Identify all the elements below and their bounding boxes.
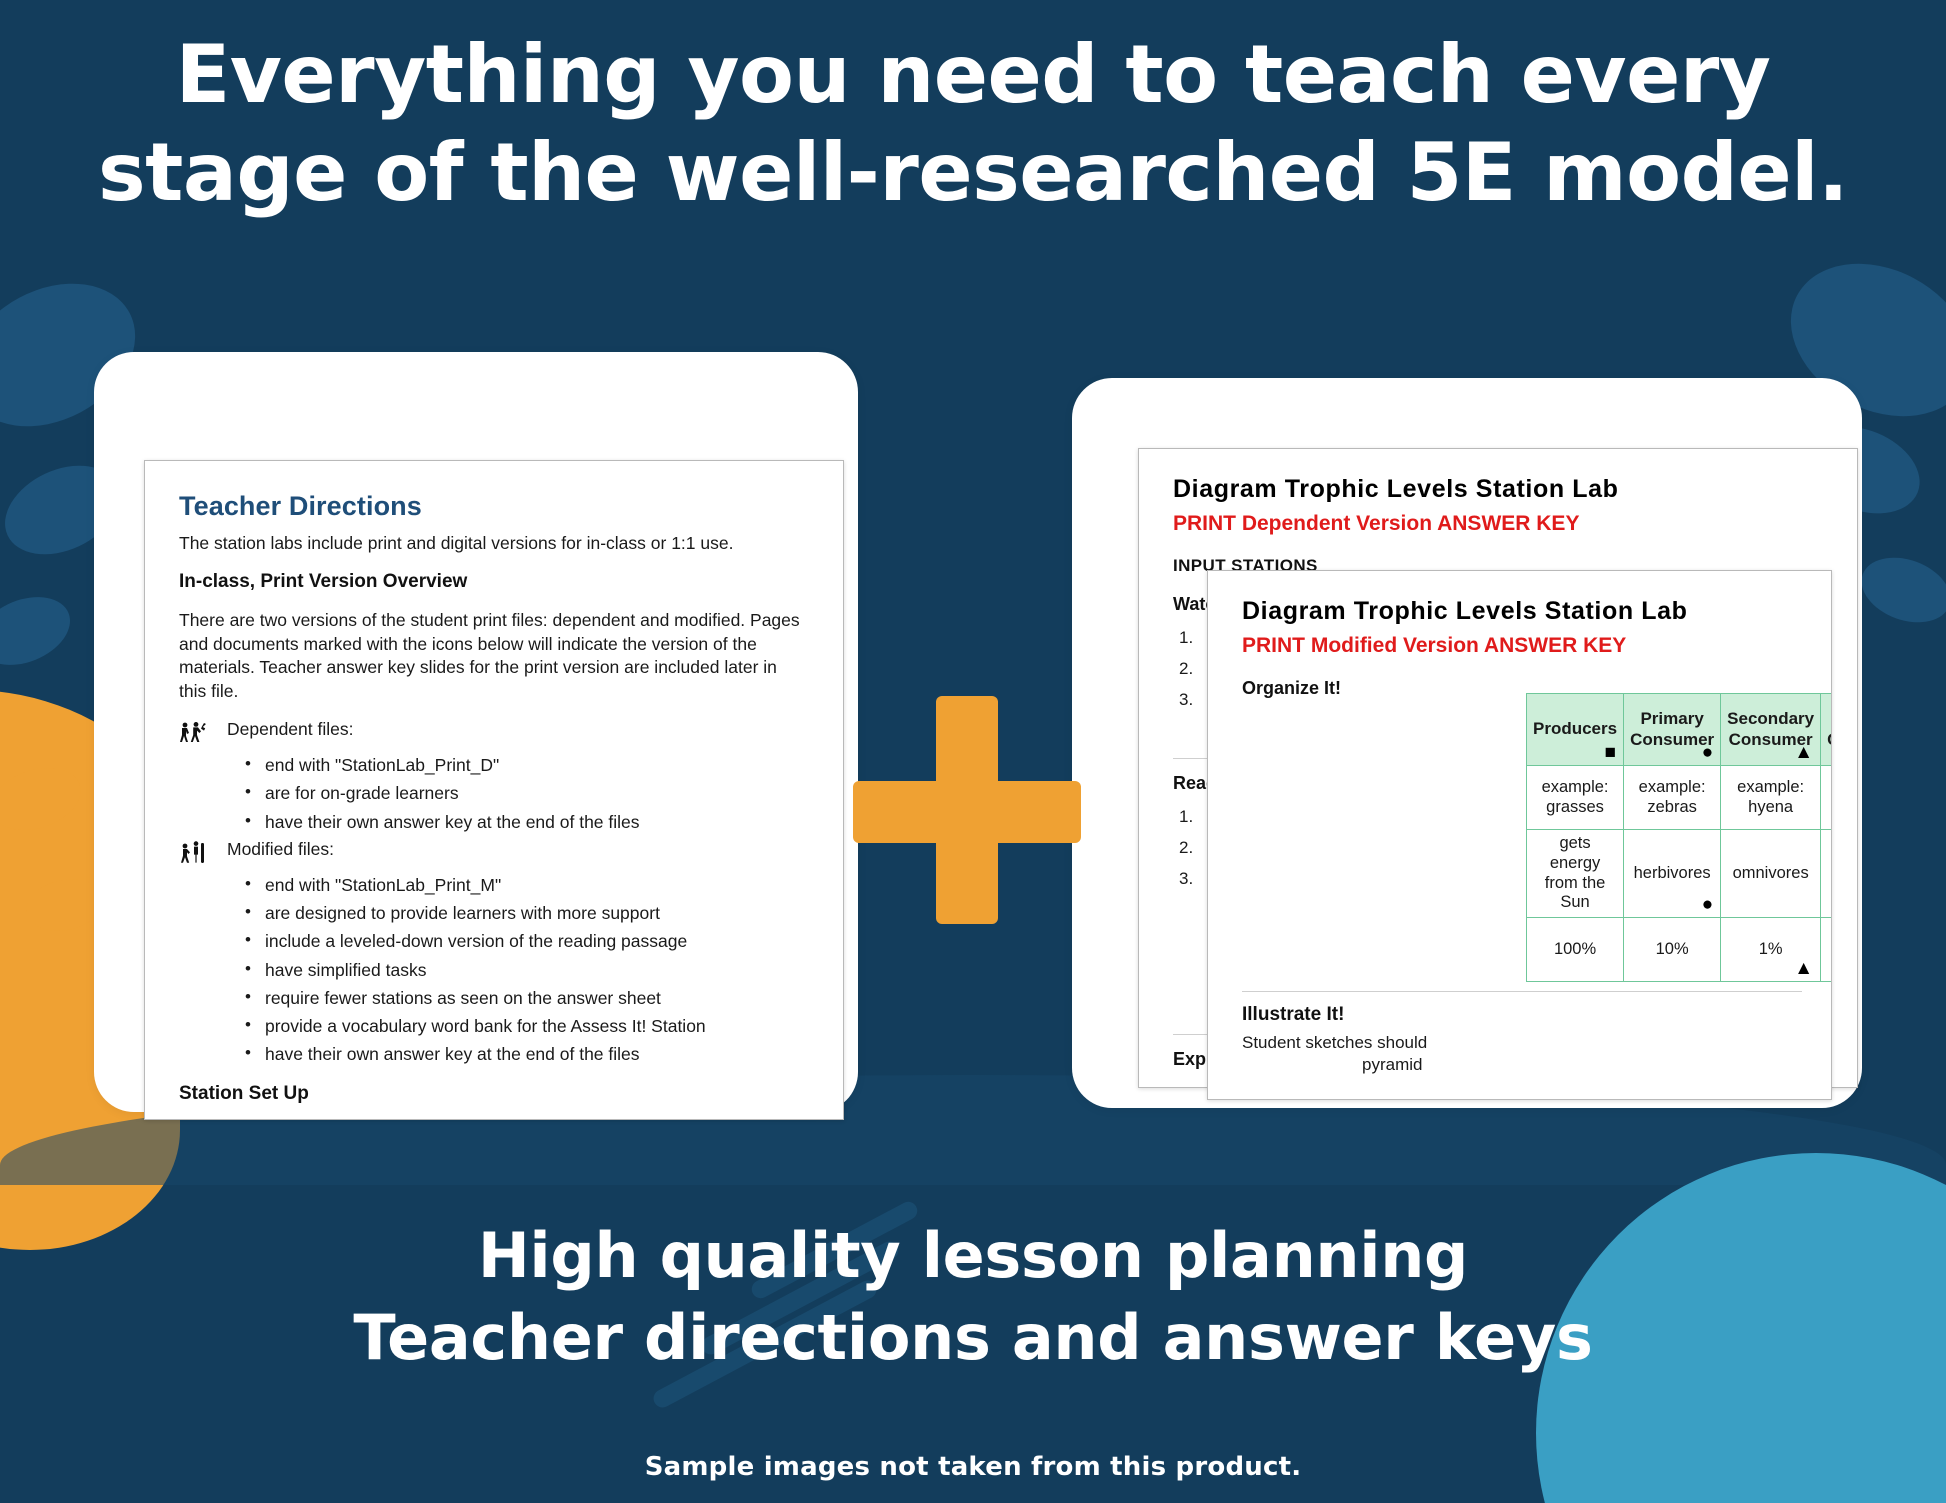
list-item: have their own answer key at the end of …	[245, 1043, 807, 1065]
modified-files-list: end with "StationLab_Print_M" are design…	[245, 874, 807, 1066]
hikers-figure-icon	[179, 719, 209, 750]
list-item: have their own answer key at the end of …	[245, 811, 807, 833]
decorative-blob-orange-dot-1	[0, 757, 89, 841]
triangle-glyph-icon: ▲	[1794, 959, 1813, 978]
list-item: are designed to provide learners with mo…	[245, 902, 807, 924]
triangle-glyph-icon: ▲	[1794, 743, 1813, 762]
table-cell: 0.1%	[1821, 918, 1832, 982]
bottom-captions: High quality lesson planning Teacher dir…	[0, 1215, 1946, 1380]
list-item: require fewer stations as seen on the an…	[245, 987, 807, 1009]
decorative-blob-blue-right-3	[1853, 546, 1946, 634]
illustrate-it-body-line-2: pyramid	[1362, 1054, 1802, 1076]
teacher-directions-document: Teacher Directions The station labs incl…	[144, 460, 844, 1120]
list-item: have simplified tasks	[245, 959, 807, 981]
column-header-tertiary-consumer: Tertiary Consumer ♥	[1821, 694, 1832, 766]
table-row: 100% 10% 1% ▲ 0.1%	[1527, 918, 1833, 982]
assisted-figure-icon	[179, 839, 209, 870]
trophic-levels-table: Producers ■ Primary Consumer ● Secondary…	[1526, 693, 1832, 982]
trophic-levels-table-wrapper: Producers ■ Primary Consumer ● Secondary…	[1526, 693, 1832, 982]
bottom-caption-line-2: Teacher directions and answer keys	[0, 1297, 1946, 1379]
page-title: Teacher Directions	[179, 491, 807, 522]
circle-glyph-icon: ●	[1702, 895, 1713, 914]
circle-glyph-icon: ●	[1702, 743, 1713, 762]
page-subtitle: PRINT Dependent Version ANSWER KEY	[1173, 512, 1857, 536]
section-heading-print-overview: In-class, Print Version Overview	[179, 571, 807, 593]
page-title: Diagram Trophic Levels Station Lab	[1173, 475, 1857, 504]
dependent-files-group: Dependent files:	[179, 719, 807, 750]
square-glyph-icon: ■	[1605, 743, 1616, 762]
column-header-primary-consumer: Primary Consumer ●	[1624, 694, 1721, 766]
illustrate-it-heading: Illustrate It!	[1242, 1004, 1802, 1026]
list-item: provide a vocabulary word bank for the A…	[245, 1015, 807, 1037]
page-title: Diagram Trophic Levels Station Lab	[1242, 597, 1831, 626]
table-row: gets energy from the Sun herbivores ● om…	[1527, 830, 1833, 918]
table-cell: gets energy from the Sun	[1527, 830, 1624, 918]
footnote: Sample images not taken from this produc…	[0, 1452, 1946, 1482]
column-header-secondary-consumer: Secondary Consumer ▲	[1721, 694, 1821, 766]
dependent-files-list: end with "StationLab_Print_D" are for on…	[245, 754, 807, 833]
page-subtitle: PRINT Modified Version ANSWER KEY	[1242, 634, 1831, 658]
headline: Everything you need to teach every stage…	[0, 26, 1946, 221]
decorative-blob-blue-left-3	[0, 584, 80, 677]
table-cell: 100%	[1527, 918, 1624, 982]
list-item: end with "StationLab_Print_M"	[245, 874, 807, 896]
table-cell: example: grasses	[1527, 766, 1624, 830]
headline-line-1: Everything you need to teach every	[176, 28, 1771, 121]
modified-files-label: Modified files:	[227, 839, 334, 860]
list-item: end with "StationLab_Print_D"	[245, 754, 807, 776]
table-row: example: grasses example: zebras example…	[1527, 766, 1833, 830]
poster-canvas: Everything you need to teach every stage…	[0, 0, 1946, 1503]
headline-line-2: stage of the well-researched 5E model.	[60, 124, 1886, 222]
table-cell: example: lion ♥	[1821, 766, 1832, 830]
modified-answer-key-document: Diagram Trophic Levels Station Lab PRINT…	[1207, 570, 1832, 1100]
table-cell: 1% ▲	[1721, 918, 1821, 982]
list-item: are for on-grade learners	[245, 782, 807, 804]
table-cell: example: zebras	[1624, 766, 1721, 830]
illustrate-it-block: Illustrate It! Student sketches should p…	[1208, 991, 1802, 1076]
section-heading-station-setup: Station Set Up	[179, 1083, 807, 1105]
bottom-caption-line-1: High quality lesson planning	[0, 1215, 1946, 1297]
table-cell: herbivores ●	[1624, 830, 1721, 918]
list-item: include a leveled-down version of the re…	[245, 930, 807, 952]
plus-icon-vertical-bar	[936, 696, 998, 924]
divider	[1242, 991, 1802, 992]
table-cell: omnivores	[1721, 830, 1821, 918]
dependent-files-label: Dependent files:	[227, 719, 353, 740]
intro-paragraph: The station labs include print and digit…	[179, 532, 807, 555]
section-paragraph-print-overview: There are two versions of the student pr…	[179, 609, 807, 703]
illustrate-it-body-line-1: Student sketches should	[1242, 1032, 1802, 1054]
table-cell: carnivores	[1821, 830, 1832, 918]
modified-files-group: Modified files:	[179, 839, 807, 870]
table-cell: 10%	[1624, 918, 1721, 982]
plus-icon	[853, 696, 1081, 924]
table-header-row: Producers ■ Primary Consumer ● Secondary…	[1527, 694, 1833, 766]
column-header-producers: Producers ■	[1527, 694, 1624, 766]
table-cell: example: hyena	[1721, 766, 1821, 830]
